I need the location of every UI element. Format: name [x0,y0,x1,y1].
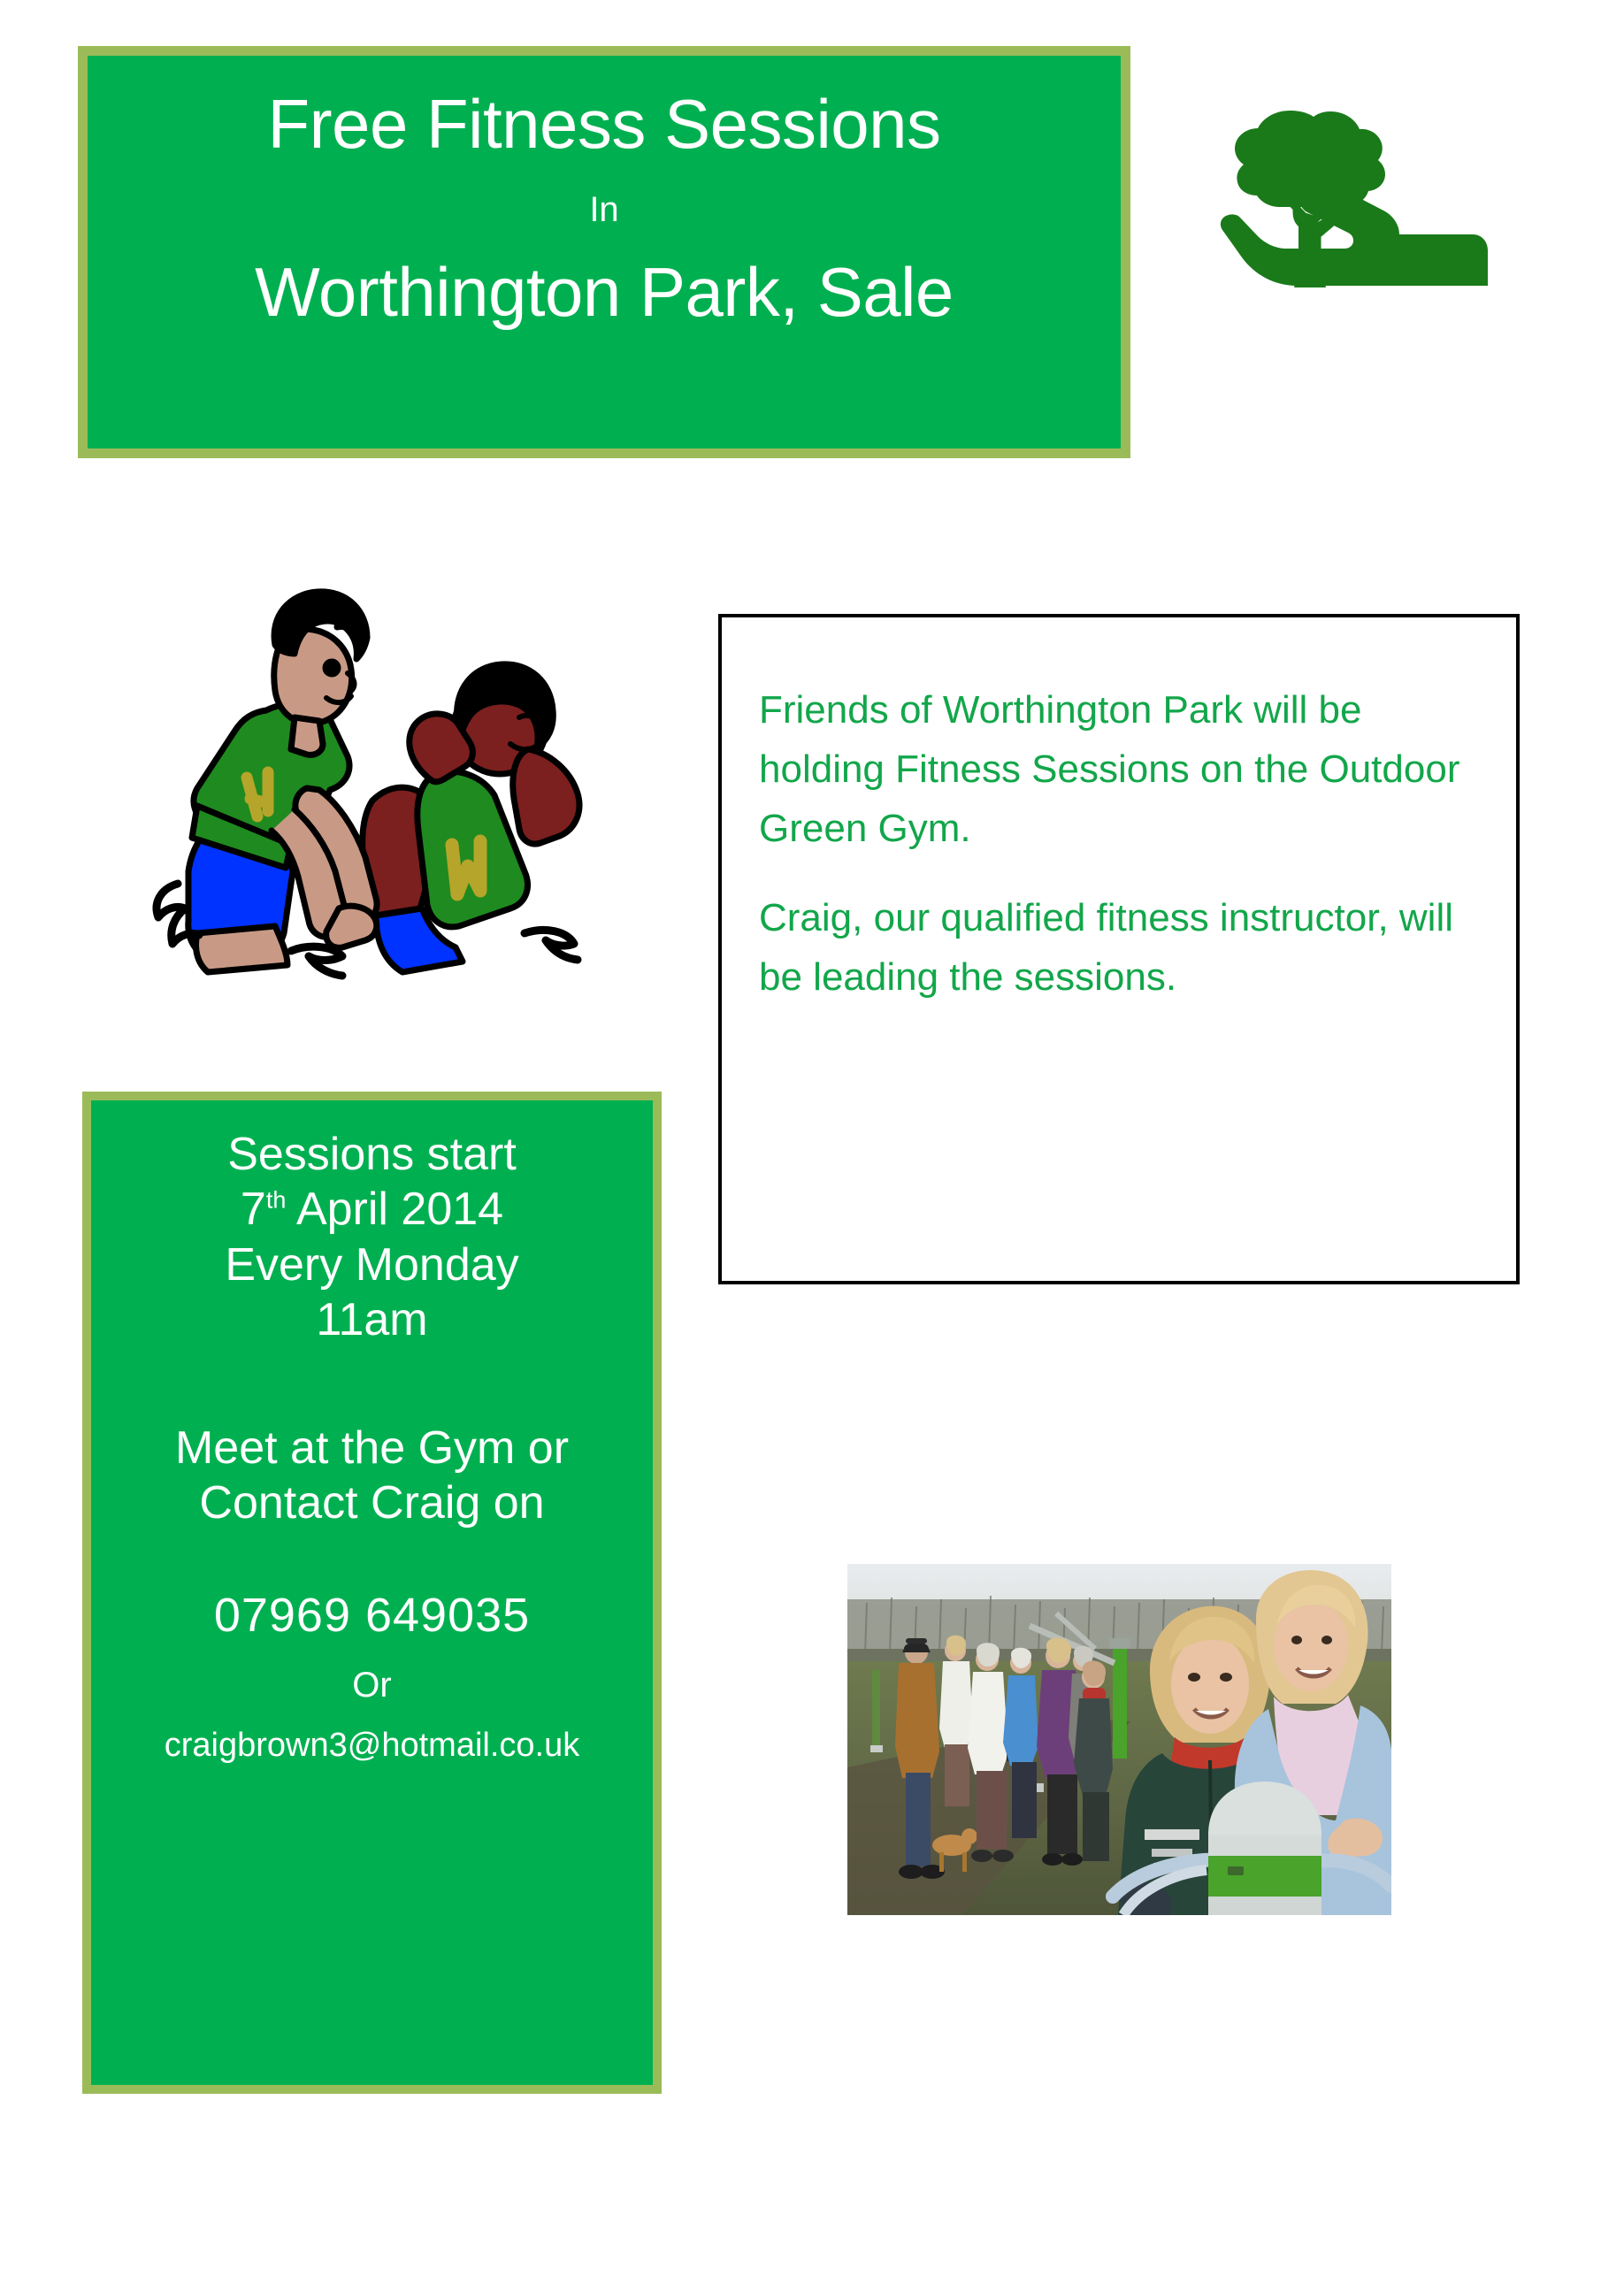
contact-phone[interactable]: 07969 649035 [91,1587,653,1644]
sessions-frequency: Every Monday [91,1238,653,1292]
header-connector: In [589,192,618,227]
photo-image [847,1564,1391,1915]
sessions-date-day: 7 [241,1184,266,1235]
contact-or-label: Or [91,1664,653,1706]
tree-in-hand-logo [1212,84,1495,287]
tree-in-hand-icon [1212,84,1495,287]
two-people-exercising-clipart [111,579,606,1004]
exercise-clipart-icon [111,579,606,1004]
spacer [91,1530,653,1587]
sessions-date-ordinal: th [266,1187,287,1214]
header-location: Worthington Park, Sale [255,257,954,326]
info-text-box: Friends of Worthington Park will be hold… [718,614,1520,1284]
sessions-meet-label: Meet at the Gym or [91,1421,653,1475]
group-photo-outdoor-green-gym [847,1564,1391,1915]
sessions-start-label: Sessions start [91,1127,653,1182]
spacer [91,1348,653,1421]
contact-email[interactable]: craigbrown3@hotmail.co.uk [91,1726,653,1766]
sessions-info-box: Sessions start 7th April 2014 Every Mond… [82,1092,662,2094]
info-paragraph-2: Craig, our qualified fitness instructor,… [759,889,1481,1008]
sessions-date-rest: April 2014 [286,1184,503,1235]
sessions-date: 7th April 2014 [91,1182,653,1237]
sessions-contact-label: Contact Craig on [91,1475,653,1530]
info-paragraph-1: Friends of Worthington Park will be hold… [759,681,1481,859]
header-banner: Free Fitness Sessions In Worthington Par… [78,46,1130,458]
sessions-time: 11am [91,1292,653,1347]
page-title: Free Fitness Sessions [267,89,940,158]
